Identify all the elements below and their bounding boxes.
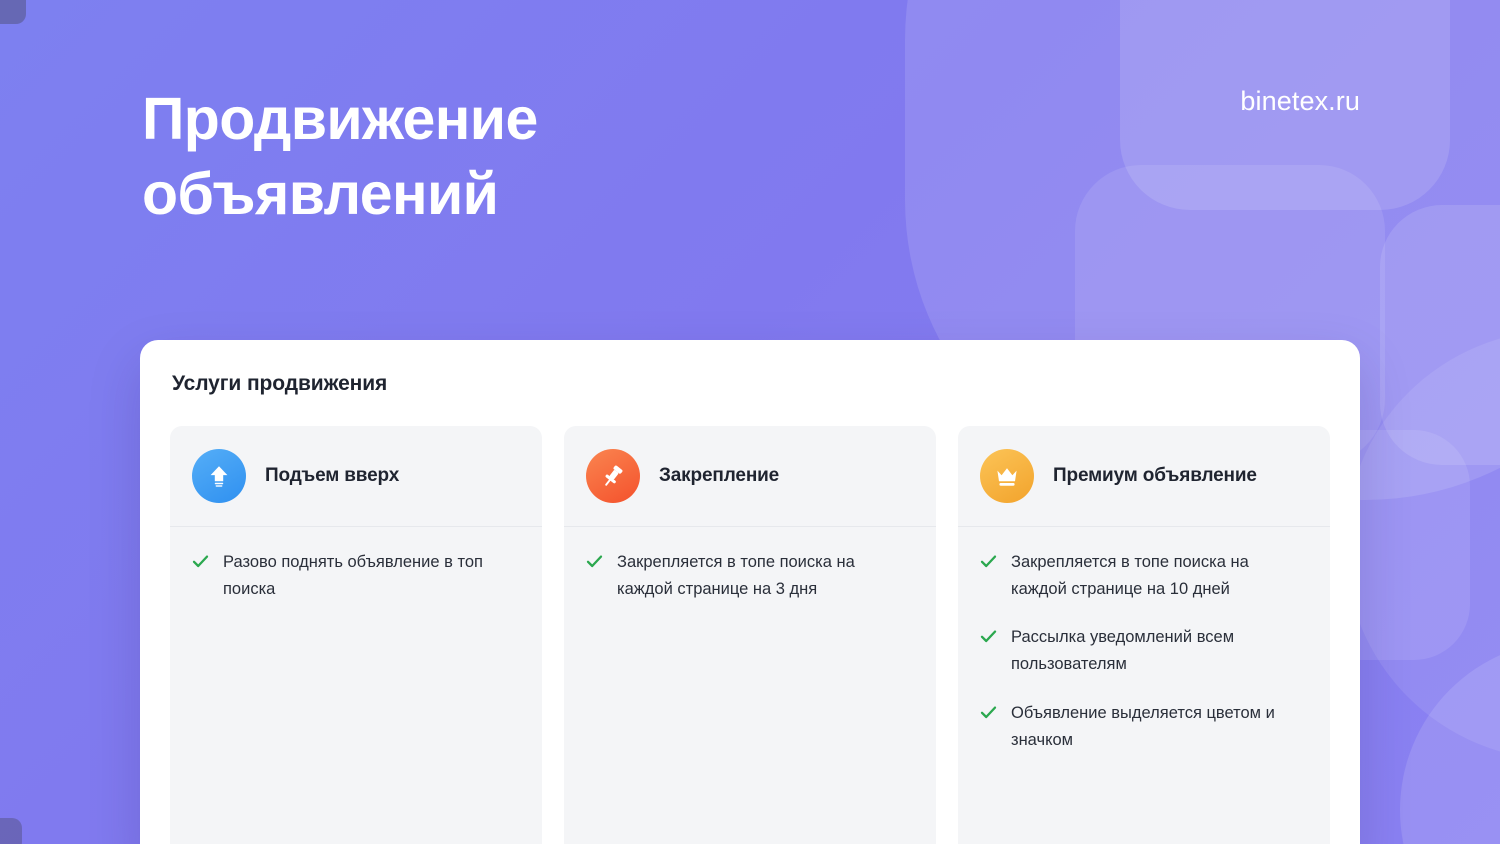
services-panel: Услуги продвижения Подъем вверх: [140, 340, 1360, 844]
feature-item: Разово поднять объявление в топ поиска: [191, 549, 518, 602]
check-icon: [979, 552, 998, 576]
corner-marker-top-left: [0, 0, 26, 24]
pushpin-icon: [586, 449, 640, 503]
feature-item: Закрепляется в топе поиска на каждой стр…: [979, 549, 1306, 602]
check-icon: [979, 703, 998, 727]
feature-text: Рассылка уведомлений всем пользователям: [1011, 624, 1306, 677]
feature-text: Закрепляется в топе поиска на каждой стр…: [617, 549, 912, 602]
page-title: Продвижение объявлений: [142, 82, 862, 232]
service-title: Премиум объявление: [1053, 465, 1257, 488]
service-feature-list: Разово поднять объявление в топ поиска: [170, 527, 542, 624]
service-card-header: Закрепление: [564, 426, 936, 527]
service-card-header: Подъем вверх: [170, 426, 542, 527]
service-feature-list: Закрепляется в топе поиска на каждой стр…: [958, 527, 1330, 775]
check-icon: [191, 552, 210, 576]
corner-marker-bottom-left: [0, 818, 22, 844]
service-title: Подъем вверх: [265, 465, 399, 488]
background-blob-bottom: [1400, 640, 1500, 844]
services-grid: Подъем вверх Разово поднять объявление в…: [170, 426, 1330, 844]
service-card-premium[interactable]: Премиум объявление Закрепляется в топе п…: [958, 426, 1330, 844]
feature-item: Рассылка уведомлений всем пользователям: [979, 624, 1306, 677]
feature-item: Закрепляется в топе поиска на каждой стр…: [585, 549, 912, 602]
check-icon: [585, 552, 604, 576]
feature-text: Разово поднять объявление в топ поиска: [223, 549, 518, 602]
background-blob-right: [1345, 330, 1500, 760]
check-icon: [979, 627, 998, 651]
background-square-right: [1380, 205, 1500, 465]
feature-item: Объявление выделяется цветом и значком: [979, 700, 1306, 753]
service-card-pin[interactable]: Закрепление Закрепляется в топе поиска н…: [564, 426, 936, 844]
service-feature-list: Закрепляется в топе поиска на каждой стр…: [564, 527, 936, 624]
service-title: Закрепление: [659, 465, 779, 488]
service-card-header: Премиум объявление: [958, 426, 1330, 527]
service-card-boost[interactable]: Подъем вверх Разово поднять объявление в…: [170, 426, 542, 844]
promo-banner: Продвижение объявлений binetex.ru Услуги…: [0, 0, 1500, 844]
panel-title: Услуги продвижения: [172, 372, 1330, 396]
feature-text: Закрепляется в топе поиска на каждой стр…: [1011, 549, 1306, 602]
brand-logo: binetex.ru: [1240, 86, 1360, 117]
feature-text: Объявление выделяется цветом и значком: [1011, 700, 1306, 753]
arrow-up-icon: [192, 449, 246, 503]
crown-icon: [980, 449, 1034, 503]
